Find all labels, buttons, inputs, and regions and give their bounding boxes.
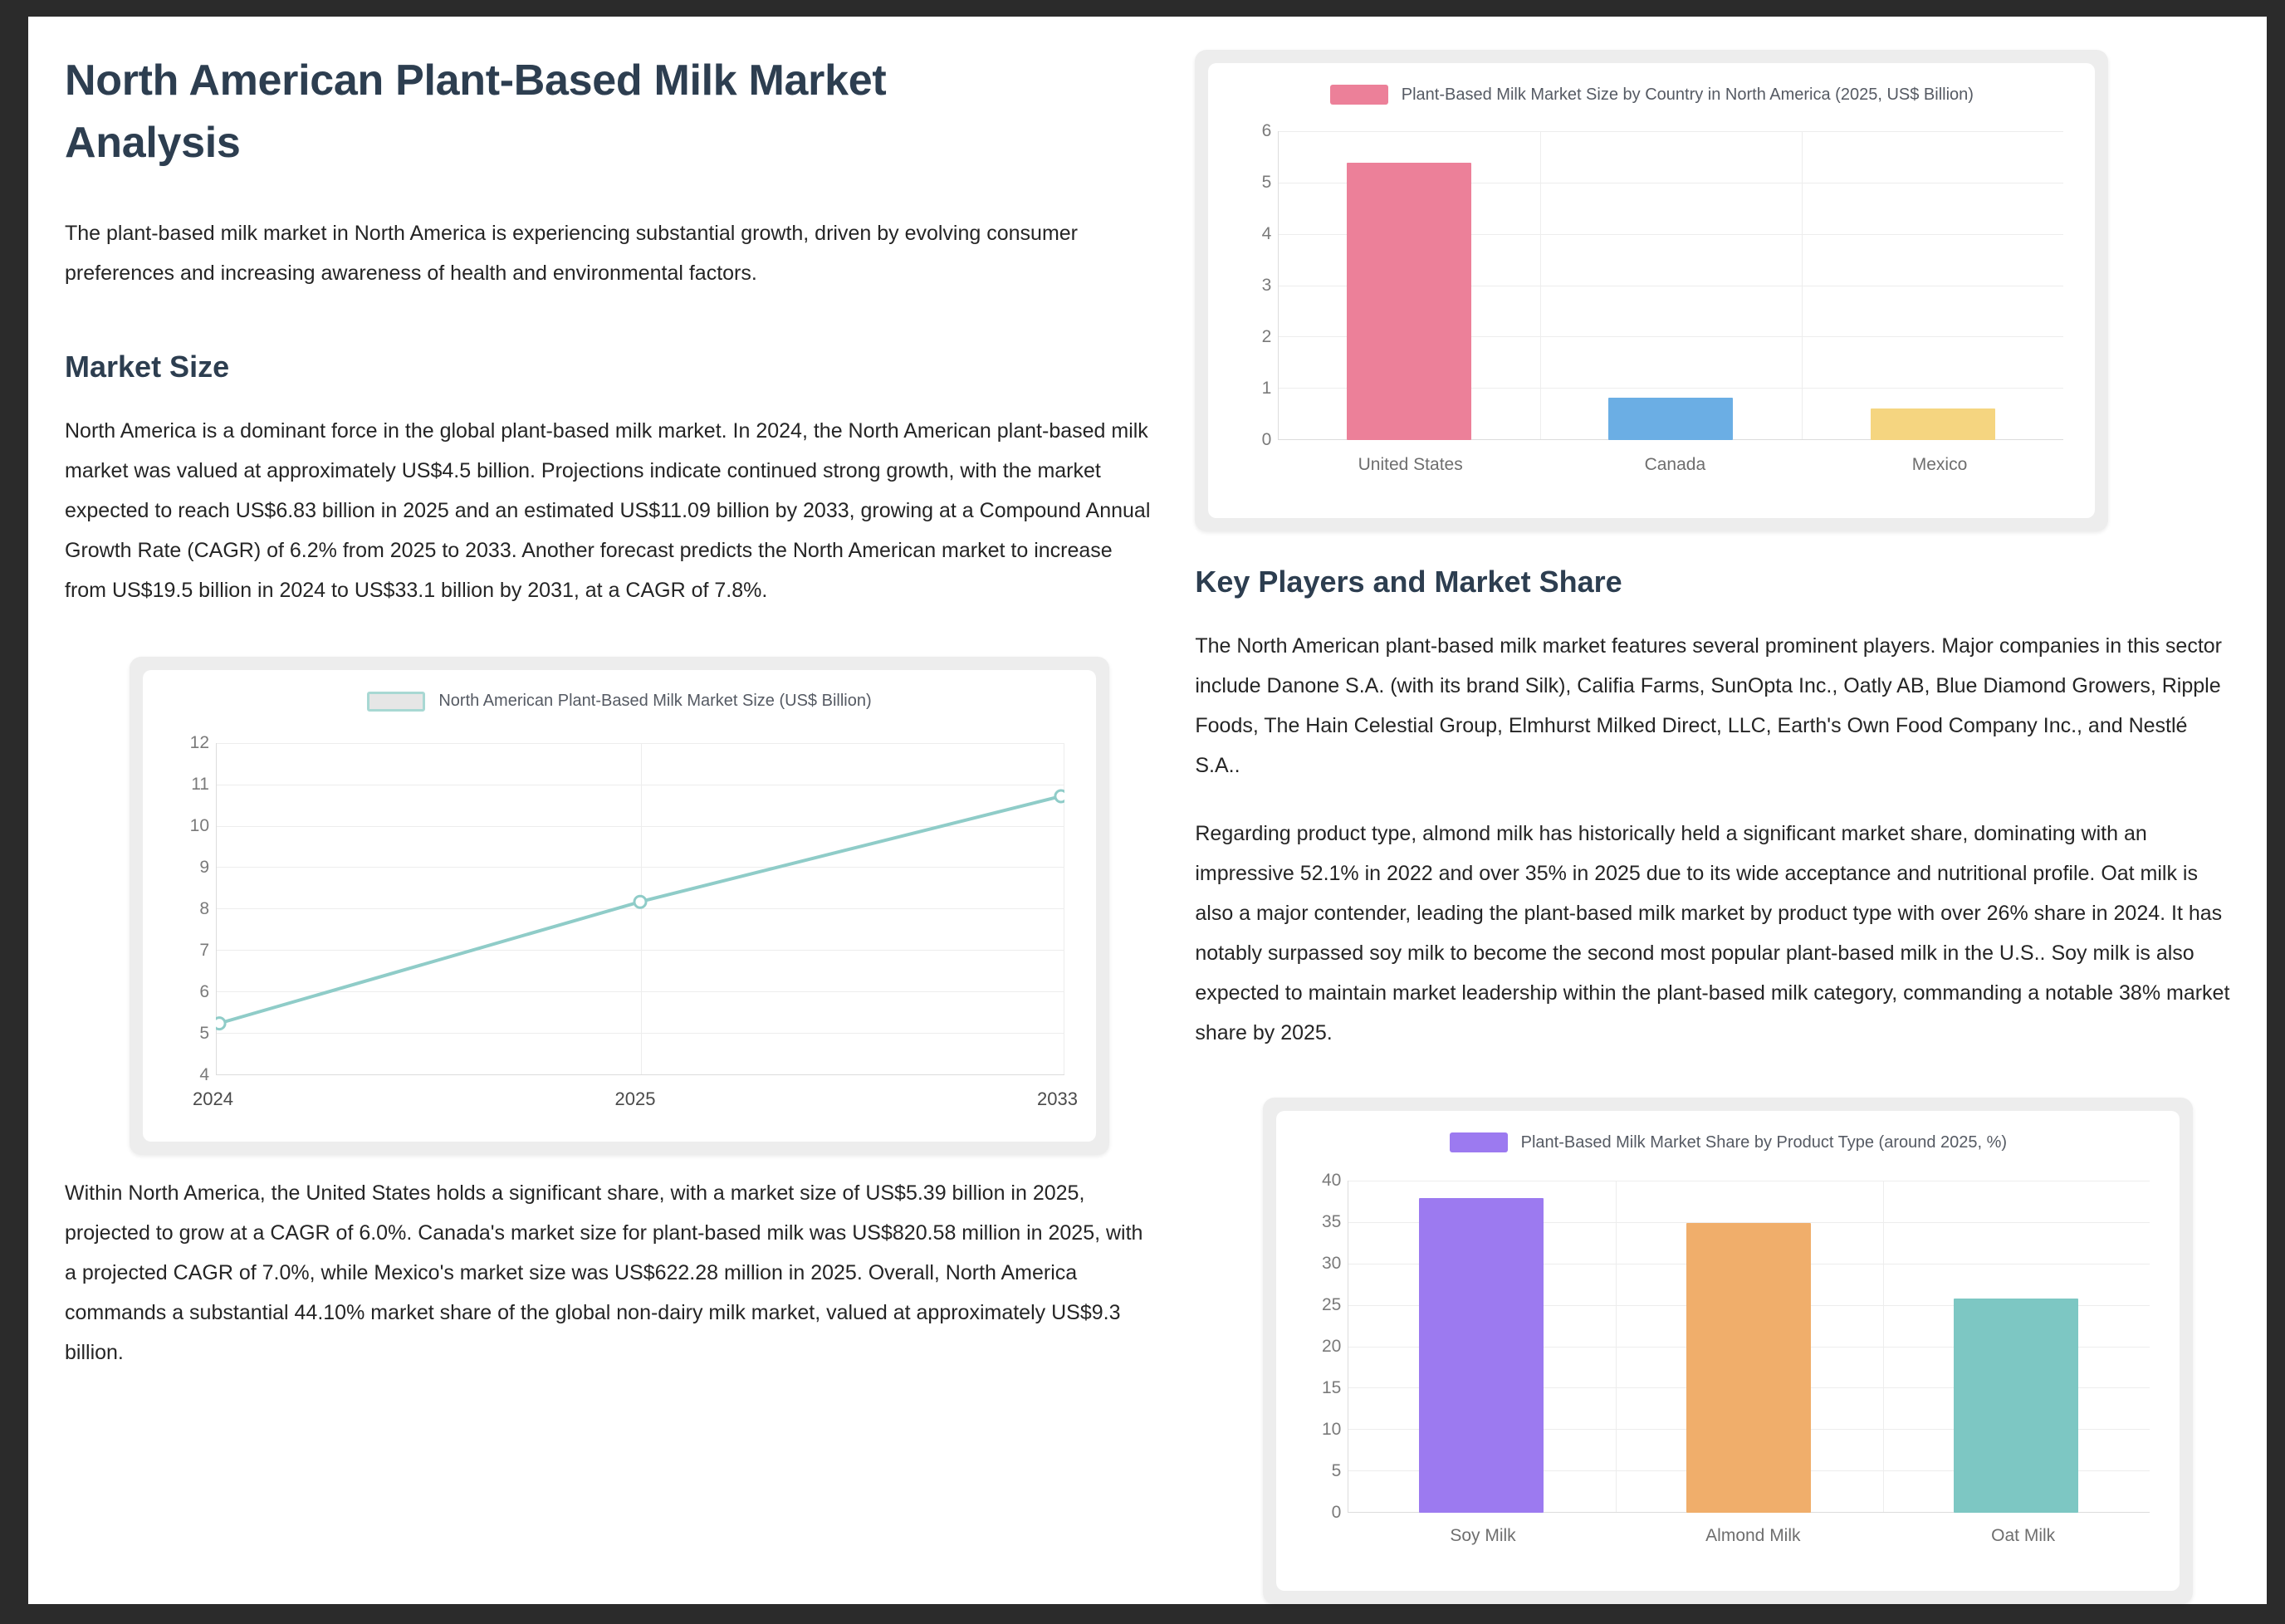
y-tick: 15 [1322, 1378, 1341, 1398]
chart-country-market-size[interactable]: Plant-Based Milk Market Size by Country … [1208, 63, 2095, 518]
plot-area-line: 12 11 10 9 8 7 6 5 4 [171, 743, 1073, 1075]
plot-area-product: 40 35 30 25 20 15 10 5 0 [1303, 1181, 2158, 1513]
x-tick: 2025 [615, 1088, 656, 1110]
y-tick: 20 [1322, 1337, 1341, 1357]
y-tick: 25 [1322, 1295, 1341, 1315]
y-axis-country: 6 5 4 3 2 1 0 [1233, 131, 1278, 440]
x-tick: Almond Milk [1686, 1526, 1819, 1546]
legend-swatch-country [1330, 85, 1388, 105]
y-tick: 0 [1332, 1503, 1342, 1523]
key-players-paragraph-2: Regarding product type, almond milk has … [1195, 814, 2230, 1053]
chart-market-size-trend[interactable]: North American Plant-Based Milk Market S… [143, 670, 1096, 1142]
intro-paragraph: The plant-based milk market in North Ame… [65, 213, 1157, 293]
x-tick: Soy Milk [1417, 1526, 1549, 1546]
y-tick: 11 [191, 775, 209, 795]
legend-swatch-line [367, 692, 425, 712]
plot-area-country: 6 5 4 3 2 1 0 [1233, 131, 2072, 440]
x-axis-line: 2024 2025 2033 [193, 1088, 1078, 1110]
legend-label-country: Plant-Based Milk Market Size by Country … [1402, 86, 1974, 105]
line-markers-svg [216, 743, 1064, 1075]
bar-series-product [1348, 1181, 2150, 1513]
y-tick: 6 [199, 982, 209, 1002]
right-column: Plant-Based Milk Market Size by Country … [1195, 50, 2230, 1604]
chart-card-market-size-trend: North American Plant-Based Milk Market S… [130, 657, 1109, 1155]
legend-label-line: North American Plant-Based Milk Market S… [438, 692, 871, 711]
x-tick: Mexico [1873, 455, 2006, 475]
x-tick: 2033 [1037, 1088, 1078, 1110]
y-tick: 9 [199, 858, 209, 878]
y-tick: 7 [199, 941, 209, 961]
page-title: North American Plant-Based Milk Market A… [65, 50, 978, 175]
market-size-paragraph-2: Within North America, the United States … [65, 1173, 1157, 1372]
y-tick: 0 [1262, 430, 1272, 450]
chart-legend: Plant-Based Milk Market Share by Product… [1276, 1111, 2180, 1152]
y-tick: 4 [1262, 224, 1272, 244]
chart-legend: Plant-Based Milk Market Size by Country … [1208, 63, 2095, 105]
y-axis-product: 40 35 30 25 20 15 10 5 0 [1303, 1181, 1348, 1513]
y-tick: 4 [199, 1065, 209, 1085]
left-column: North American Plant-Based Milk Market A… [65, 50, 1157, 1604]
x-axis-product: Soy Milk Almond Milk Oat Milk [1348, 1526, 2158, 1546]
document-page: North American Plant-Based Milk Market A… [28, 17, 2267, 1604]
bar-series-country [1278, 131, 2063, 440]
bar-almond-milk[interactable] [1686, 1223, 1811, 1513]
y-tick: 10 [190, 816, 209, 836]
market-size-paragraph-1: North America is a dominant force in the… [65, 411, 1157, 610]
y-tick: 10 [1322, 1420, 1341, 1440]
y-tick: 12 [190, 733, 209, 753]
y-axis-line: 12 11 10 9 8 7 6 5 4 [171, 743, 216, 1075]
y-tick: 2 [1262, 327, 1272, 347]
y-tick: 5 [1332, 1461, 1342, 1481]
bar-canada[interactable] [1608, 398, 1733, 440]
bar-soy-milk[interactable] [1419, 1198, 1544, 1513]
x-tick: United States [1344, 455, 1477, 475]
y-tick: 1 [1262, 379, 1272, 399]
x-axis-country: United States Canada Mexico [1278, 455, 2072, 475]
chart-card-product-type-share: Plant-Based Milk Market Share by Product… [1263, 1098, 2193, 1604]
y-tick: 5 [1262, 173, 1272, 193]
legend-label-product: Plant-Based Milk Market Share by Product… [1521, 1133, 2007, 1152]
y-tick: 5 [199, 1024, 209, 1044]
x-tick: Oat Milk [1957, 1526, 2090, 1546]
bar-united-states[interactable] [1347, 163, 1471, 440]
y-tick: 8 [199, 899, 209, 919]
chart-product-type-share[interactable]: Plant-Based Milk Market Share by Product… [1276, 1111, 2180, 1591]
section-heading-key-players: Key Players and Market Share [1195, 565, 2230, 599]
y-tick: 30 [1322, 1254, 1341, 1274]
y-tick: 3 [1262, 276, 1272, 296]
line-series [216, 743, 1064, 1075]
x-tick: Canada [1608, 455, 1741, 475]
bar-mexico[interactable] [1871, 408, 1995, 440]
y-tick: 35 [1322, 1212, 1341, 1232]
key-players-paragraph-1: The North American plant-based milk mark… [1195, 626, 2230, 785]
chart-legend: North American Plant-Based Milk Market S… [143, 670, 1096, 712]
section-heading-market-size: Market Size [65, 350, 1157, 384]
chart-card-country-market-size: Plant-Based Milk Market Size by Country … [1195, 50, 2108, 531]
x-tick: 2024 [193, 1088, 233, 1110]
bar-oat-milk[interactable] [1954, 1299, 2078, 1513]
legend-swatch-product [1450, 1132, 1508, 1152]
y-tick: 6 [1262, 121, 1272, 141]
y-tick: 40 [1322, 1171, 1341, 1191]
